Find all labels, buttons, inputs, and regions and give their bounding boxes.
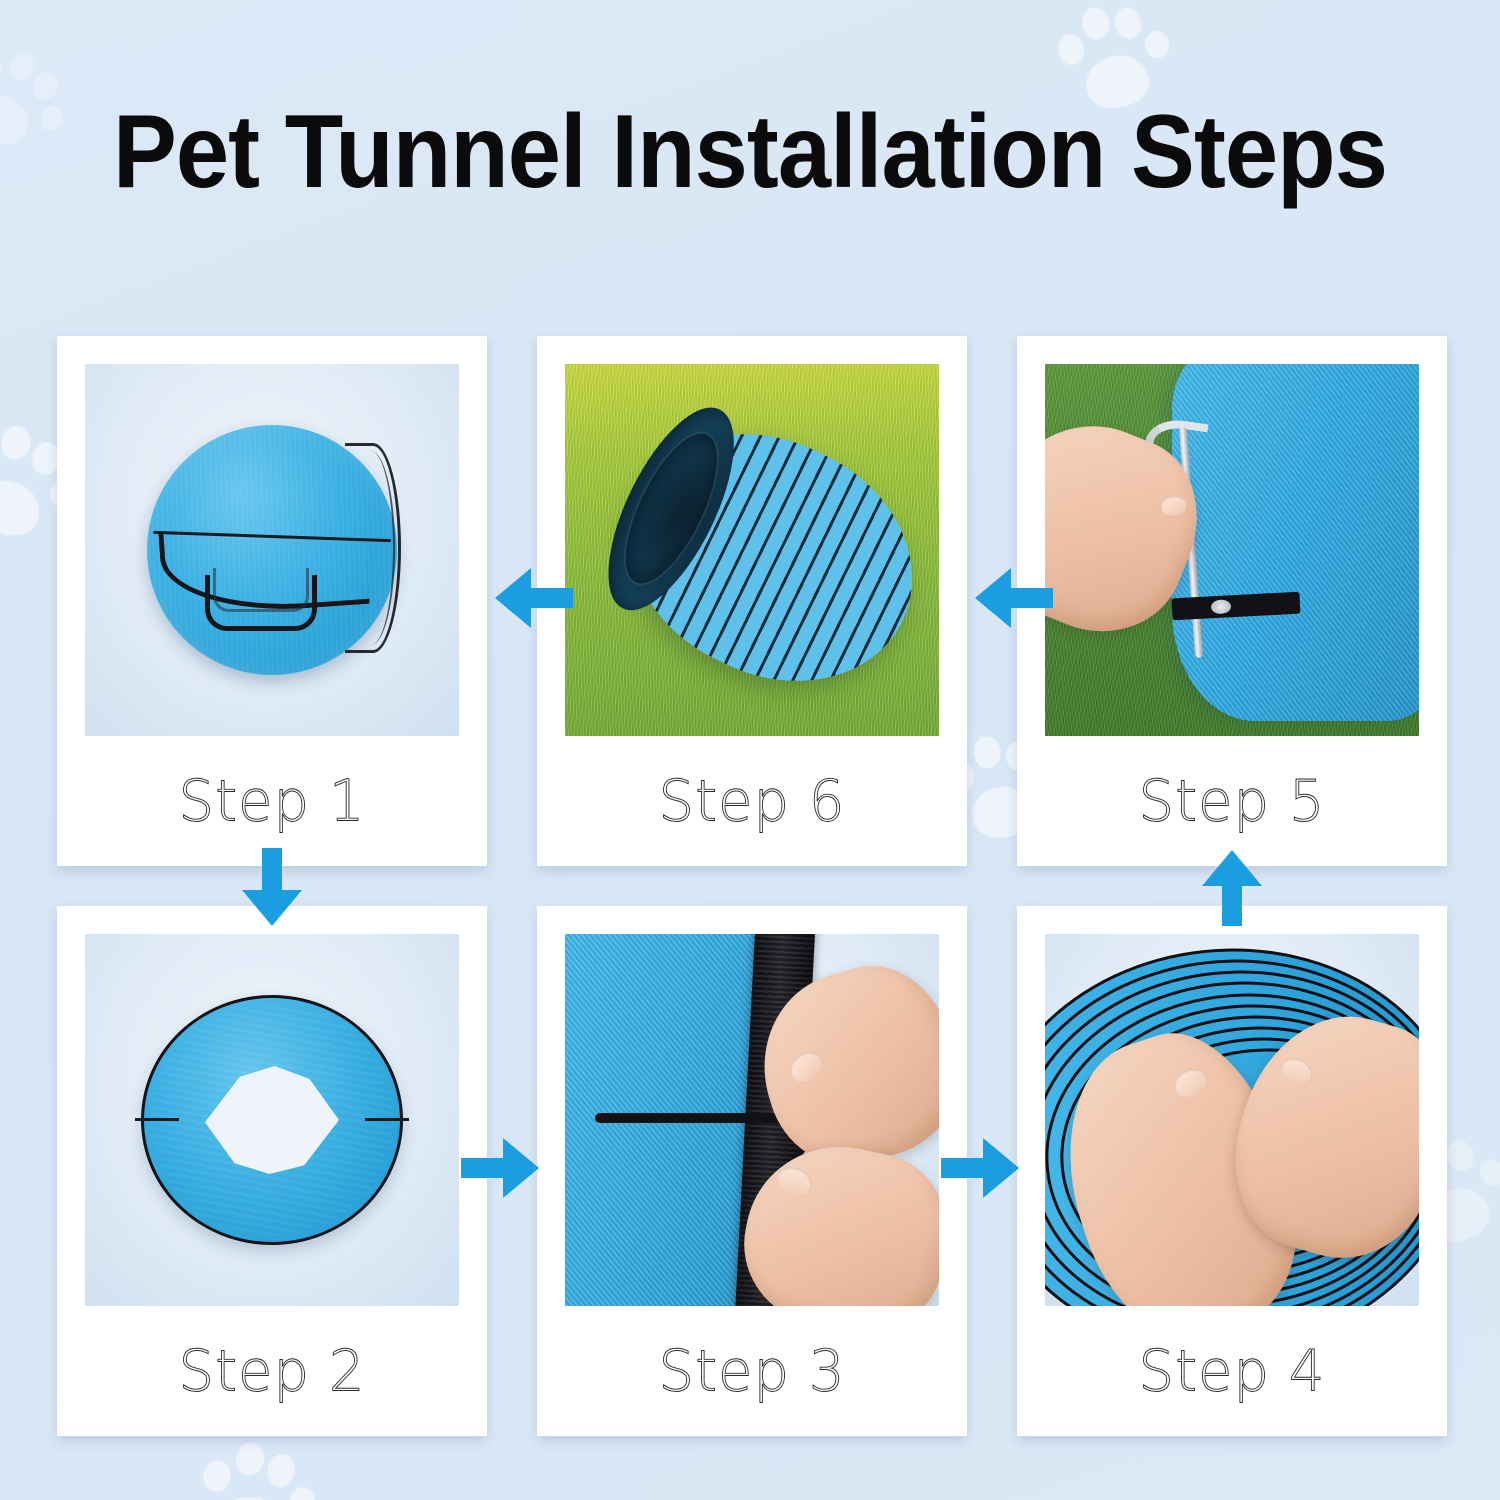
paw-pad-icon bbox=[0, 85, 38, 154]
arrow-step6-to-step1 bbox=[493, 566, 573, 630]
paw-toe-icon bbox=[288, 1486, 317, 1500]
step-label-2: Step 2 bbox=[179, 1338, 366, 1404]
step-photo-2 bbox=[85, 934, 459, 1306]
step-caption-2: Step 2 bbox=[57, 1306, 487, 1436]
arrow-step1-to-step2 bbox=[240, 848, 304, 928]
arrow-step5-to-step6 bbox=[973, 566, 1053, 630]
step-card-4[interactable]: Step 4 bbox=[1017, 906, 1447, 1436]
step-label-1: Step 1 bbox=[179, 768, 366, 834]
step-caption-1: Step 1 bbox=[57, 736, 487, 866]
paw-toe-icon bbox=[1443, 1136, 1478, 1174]
paw-toe-icon bbox=[1079, 4, 1113, 41]
step-label-4: Step 4 bbox=[1139, 1338, 1326, 1404]
steps-grid: Step 1 Step 6 bbox=[57, 336, 1443, 1436]
step-caption-5: Step 5 bbox=[1017, 736, 1447, 866]
step-photo-1 bbox=[85, 364, 459, 736]
paw-toe-icon bbox=[0, 51, 7, 88]
paw-toe-icon bbox=[1055, 32, 1087, 68]
step-card-5[interactable]: Step 5 bbox=[1017, 336, 1447, 866]
step-label-6: Step 6 bbox=[659, 768, 846, 834]
paw-toe-icon bbox=[1476, 1156, 1500, 1190]
arrow-step2-to-step3 bbox=[461, 1136, 541, 1200]
step-photo-4 bbox=[1045, 934, 1419, 1306]
arrow-step3-to-step4 bbox=[941, 1136, 1021, 1200]
step-photo-3 bbox=[565, 934, 939, 1306]
step-caption-6: Step 6 bbox=[537, 736, 967, 866]
step-label-5: Step 5 bbox=[1139, 768, 1326, 834]
paw-pad-icon bbox=[0, 473, 46, 542]
paw-toe-icon bbox=[234, 1441, 267, 1478]
step-caption-4: Step 4 bbox=[1017, 1306, 1447, 1436]
arrow-step4-to-step5 bbox=[1200, 848, 1264, 928]
paw-print-decoration bbox=[188, 1426, 328, 1500]
step-caption-3: Step 3 bbox=[537, 1306, 967, 1436]
step-photo-5 bbox=[1045, 364, 1419, 736]
paw-toe-icon bbox=[27, 67, 62, 104]
step-photo-6 bbox=[565, 364, 939, 736]
paw-toe-icon bbox=[1112, 5, 1144, 41]
page-title: Pet Tunnel Installation Steps bbox=[60, 96, 1440, 208]
paw-toe-icon bbox=[4, 47, 41, 85]
paw-toe-icon bbox=[201, 1459, 232, 1495]
step-card-3[interactable]: Step 3 bbox=[537, 906, 967, 1436]
paw-pad-icon bbox=[215, 1493, 286, 1500]
folded-tunnel-pouch-illustration bbox=[147, 425, 397, 675]
infographic-canvas: Pet Tunnel Installation Steps Step 1 bbox=[0, 0, 1500, 1500]
step-card-6[interactable]: Step 6 bbox=[537, 336, 967, 866]
step-label-3: Step 3 bbox=[659, 1338, 846, 1404]
open-tunnel-ring-illustration bbox=[141, 995, 403, 1245]
step-card-1[interactable]: Step 1 bbox=[57, 336, 487, 866]
tunnel-fabric-illustration bbox=[1172, 364, 1419, 721]
paw-toe-icon bbox=[266, 1453, 297, 1489]
paw-toe-icon bbox=[1143, 28, 1172, 60]
paw-toe-icon bbox=[0, 422, 35, 463]
step-card-2[interactable]: Step 2 bbox=[57, 906, 487, 1436]
